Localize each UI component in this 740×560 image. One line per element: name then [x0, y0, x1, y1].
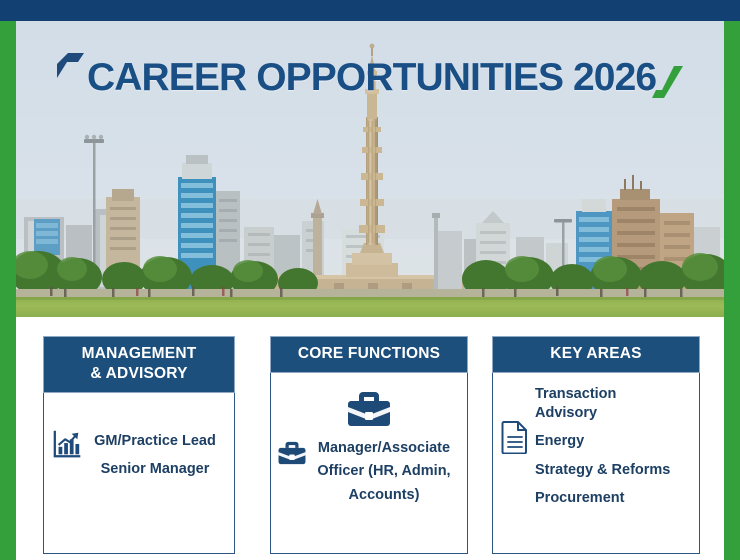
card-management-item-0: GM/Practice Lead	[82, 427, 228, 455]
card-core-functions-heading-line1: CORE FUNCTIONS	[275, 344, 463, 364]
document-icon	[501, 420, 529, 454]
card-management-heading-line1: MANAGEMENT	[48, 344, 230, 364]
card-management-advisory[interactable]: MANAGEMENT & ADVISORY	[43, 336, 235, 554]
card-key-areas-heading: KEY AREAS	[492, 336, 700, 373]
card-key-areas[interactable]: KEY AREAS	[492, 336, 700, 554]
card-management-item-1: Senior Manager	[82, 455, 228, 483]
card-key-areas-heading-line1: KEY AREAS	[497, 344, 695, 364]
card-key-areas-item-0: Transaction Advisory	[535, 385, 693, 424]
card-key-areas-item-1: Energy	[535, 432, 693, 451]
card-core-functions[interactable]: CORE FUNCTIONS	[270, 336, 468, 554]
card-management-heading: MANAGEMENT & ADVISORY	[43, 336, 235, 393]
page-title-text: CAREER OPPORTUNITIES 2026	[87, 58, 656, 97]
card-key-areas-item-2: Strategy & Reforms	[535, 461, 693, 480]
left-green-bar	[0, 21, 16, 560]
card-key-areas-item-0-line1: Transaction	[535, 385, 693, 404]
briefcase-icon	[346, 389, 392, 429]
card-core-functions-heading: CORE FUNCTIONS	[270, 336, 468, 373]
bar-chart-growth-icon	[52, 429, 82, 459]
top-navy-bar	[0, 0, 740, 21]
card-core-functions-body: Manager/Associate Officer (HR, Admin, Ac…	[270, 373, 468, 554]
poster-root: CAREER OPPORTUNITIES 2026 MANAGEMENT & A…	[0, 0, 740, 560]
card-core-functions-item-2: Accounts)	[307, 484, 461, 507]
card-key-areas-item-3: Procurement	[535, 489, 693, 508]
card-slot-key-areas: KEY AREAS	[484, 336, 724, 554]
card-slot-core-functions: CORE FUNCTIONS	[262, 336, 484, 554]
card-key-areas-body: Transaction Advisory Energy Strategy & R…	[492, 373, 700, 554]
card-slot-management: MANAGEMENT & ADVISORY	[16, 336, 262, 554]
angled-slash-logo-icon	[55, 51, 85, 91]
category-cards: MANAGEMENT & ADVISORY	[16, 336, 724, 556]
card-core-functions-item-0: Manager/Associate	[307, 437, 461, 460]
card-core-functions-item-1: Officer (HR, Admin,	[307, 460, 461, 483]
briefcase-icon	[277, 440, 307, 466]
right-green-bar	[724, 21, 740, 560]
card-key-areas-item-0-line2: Advisory	[535, 404, 693, 423]
green-check-accent-icon	[650, 64, 684, 104]
page-title: CAREER OPPORTUNITIES 2026	[55, 48, 695, 106]
card-management-body: GM/Practice Lead Senior Manager	[43, 393, 235, 554]
card-management-heading-line2: & ADVISORY	[48, 364, 230, 384]
